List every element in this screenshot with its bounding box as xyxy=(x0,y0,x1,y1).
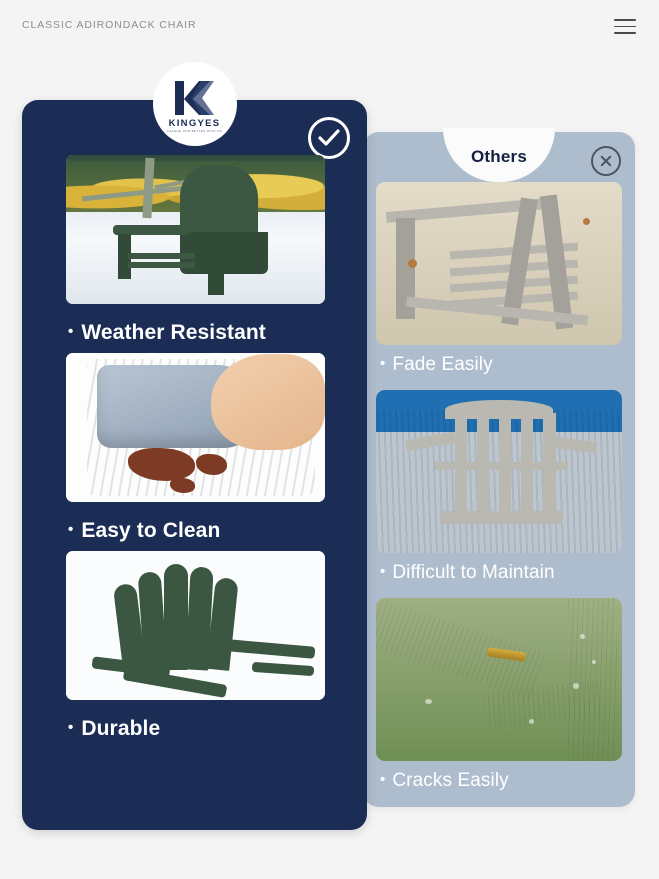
feature-caption: •Easy to Clean xyxy=(68,519,367,543)
list-item: •Weather Resistant xyxy=(22,155,367,345)
drawback-caption: •Fade Easily xyxy=(380,354,635,376)
brand-logo: KINGYES CHANGE OUR BETTER WITH US xyxy=(153,62,237,146)
hamburger-menu-icon[interactable] xyxy=(614,19,636,35)
bullet-icon: • xyxy=(68,719,73,736)
drawback-image-difficult-to-maintain xyxy=(376,390,622,553)
drawbacks-list: •Fade Easily xyxy=(363,182,635,806)
bullet-icon: • xyxy=(68,323,73,340)
bullet-icon: • xyxy=(68,521,73,538)
product-comparison-page: CLASSIC ADIRONDACK CHAIR Others xyxy=(0,0,659,879)
others-tab[interactable]: Others xyxy=(443,128,555,182)
feature-image-weather-resistant xyxy=(66,155,325,304)
check-mark-icon xyxy=(318,128,340,148)
features-list: •Weather Resistant xyxy=(22,155,367,749)
brand-tagline: CHANGE OUR BETTER WITH US xyxy=(167,130,222,133)
drawback-image-fade-easily xyxy=(376,182,622,345)
bullet-icon: • xyxy=(380,771,385,788)
bullet-icon: • xyxy=(380,563,385,580)
drawback-caption: •Cracks Easily xyxy=(380,770,635,792)
hamburger-line xyxy=(614,19,636,21)
kingyes-comparison-panel: KINGYES CHANGE OUR BETTER WITH US xyxy=(22,100,367,830)
top-bar: CLASSIC ADIRONDACK CHAIR xyxy=(0,0,659,56)
drawback-caption: •Difficult to Maintain xyxy=(380,562,635,584)
hamburger-line xyxy=(614,32,636,34)
bullet-icon: • xyxy=(380,355,385,372)
feature-caption: •Weather Resistant xyxy=(68,321,367,345)
list-item: •Easy to Clean xyxy=(22,353,367,543)
list-item: •Durable xyxy=(22,551,367,741)
page-title: CLASSIC ADIRONDACK CHAIR xyxy=(22,19,196,31)
brand-wordmark: KINGYES xyxy=(169,118,221,129)
feature-image-easy-to-clean xyxy=(66,353,325,502)
others-comparison-panel: Others xyxy=(363,132,635,807)
hamburger-line xyxy=(614,26,636,28)
feature-label: Durable xyxy=(81,717,160,740)
list-item: •Fade Easily xyxy=(363,182,635,376)
drawback-image-cracks-easily xyxy=(376,598,622,761)
feature-image-durable xyxy=(66,551,325,700)
drawback-label: Cracks Easily xyxy=(392,770,508,791)
feature-caption: •Durable xyxy=(68,717,367,741)
list-item: •Cracks Easily xyxy=(363,598,635,792)
feature-label: Weather Resistant xyxy=(81,321,266,344)
kingyes-k-logo-icon xyxy=(169,79,221,117)
others-tab-label: Others xyxy=(471,147,527,167)
list-item: •Difficult to Maintain xyxy=(363,390,635,584)
x-circle-icon[interactable] xyxy=(591,146,621,176)
check-circle-icon[interactable] xyxy=(308,117,350,159)
drawback-label: Fade Easily xyxy=(392,354,492,375)
feature-label: Easy to Clean xyxy=(81,519,220,542)
drawback-label: Difficult to Maintain xyxy=(392,562,554,583)
